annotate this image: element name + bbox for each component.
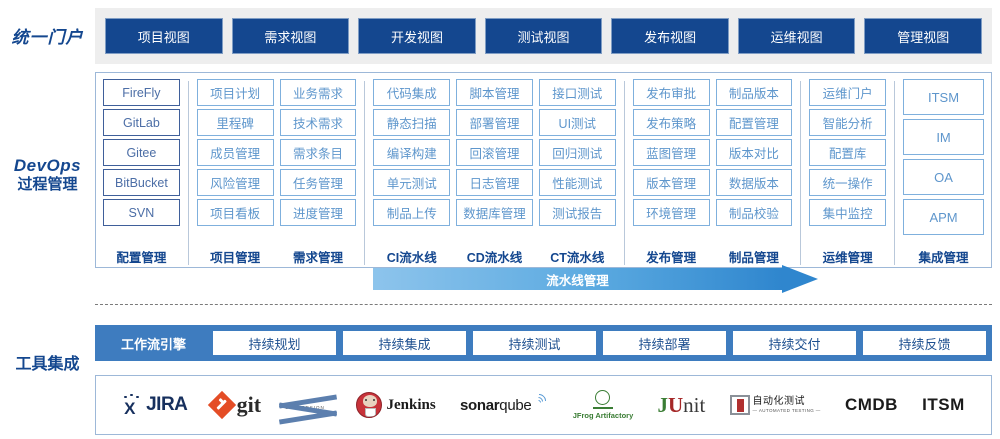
workflow-engine-label: 工作流引擎 xyxy=(101,334,206,353)
unified-portal-band: 项目视图需求视图开发视图测试视图发布视图运维视图管理视图 xyxy=(95,8,992,64)
pipeline-arrow-label: 流水线管理 xyxy=(373,268,782,290)
capability-column-配置管理: FireFlyGitLabGiteeBitBucketSVN配置管理 xyxy=(100,79,183,267)
capability-column-集成管理: ITSMIMOAAPM集成管理 xyxy=(900,79,987,267)
portal-view-button-6[interactable]: 运维视图 xyxy=(738,18,856,54)
capability-column-CT流水线: 接口测试UI测试回归测试性能测试测试报告CT流水线 xyxy=(536,79,619,267)
portal-view-button-1[interactable]: 项目视图 xyxy=(105,18,223,54)
capability-cell[interactable]: 测试报告 xyxy=(539,199,616,226)
capability-cell[interactable]: 日志管理 xyxy=(456,169,533,196)
logo-jira: XJIRA xyxy=(122,394,187,416)
workflow-stage-button-2[interactable]: 持续集成 xyxy=(343,331,466,355)
capability-cell[interactable]: 数据库管理 xyxy=(456,199,533,226)
capability-cell[interactable]: 进度管理 xyxy=(280,199,357,226)
capability-column-title: 项目管理 xyxy=(197,245,274,267)
capability-cell[interactable]: 回归测试 xyxy=(539,139,616,166)
capability-column-发布管理: 发布审批发布策略蓝图管理版本管理环境管理发布管理 xyxy=(630,79,713,267)
capability-cell[interactable]: 业务需求 xyxy=(280,79,357,106)
capability-column-CD流水线: 脚本管理部署管理回滚管理日志管理数据库管理CD流水线 xyxy=(453,79,536,267)
capability-cell[interactable]: 配置库 xyxy=(809,139,886,166)
jira-icon: X xyxy=(122,396,141,415)
capability-cell[interactable]: OA xyxy=(903,159,984,195)
capability-column-title: CD流水线 xyxy=(456,245,533,267)
column-group-4: 发布审批发布策略蓝图管理版本管理环境管理发布管理制品版本配置管理版本对比数据版本… xyxy=(630,79,796,267)
capability-cell[interactable]: 版本管理 xyxy=(633,169,710,196)
capability-cell[interactable]: 项目计划 xyxy=(197,79,274,106)
capability-column-title: 制品管理 xyxy=(716,245,793,267)
capability-cell[interactable]: BitBucket xyxy=(103,169,180,196)
capability-cell[interactable]: 接口测试 xyxy=(539,79,616,106)
column-group-1: FireFlyGitLabGiteeBitBucketSVN配置管理 xyxy=(100,79,183,267)
capability-cell[interactable]: 制品上传 xyxy=(373,199,450,226)
capability-cell-list: 脚本管理部署管理回滚管理日志管理数据库管理 xyxy=(456,79,533,245)
capability-cell-list: 代码集成静态扫描编译构建单元测试制品上传 xyxy=(373,79,450,245)
automated-testing-icon xyxy=(730,395,750,415)
capability-cell[interactable]: 任务管理 xyxy=(280,169,357,196)
column-group-divider xyxy=(188,81,189,265)
capability-cell[interactable]: IM xyxy=(903,119,984,155)
logo-jenkins: Jenkins xyxy=(356,392,436,418)
capability-cell[interactable]: 发布审批 xyxy=(633,79,710,106)
jira-wordmark: JIRA xyxy=(146,394,187,416)
devops-platform-architecture-diagram: 统一门户 DevOps 过程管理 工具集成 项目视图需求视图开发视图测试视图发布… xyxy=(0,0,1000,439)
portal-view-button-2[interactable]: 需求视图 xyxy=(232,18,350,54)
capability-cell[interactable]: GitLab xyxy=(103,109,180,136)
workflow-stage-button-3[interactable]: 持续测试 xyxy=(473,331,596,355)
capability-cell[interactable]: 集中监控 xyxy=(809,199,886,226)
capability-column-CI流水线: 代码集成静态扫描编译构建单元测试制品上传CI流水线 xyxy=(370,79,453,267)
column-group-5: 运维门户智能分析配置库统一操作集中监控运维管理 xyxy=(806,79,889,267)
cmdb-wordmark: CMDB xyxy=(845,395,898,415)
capability-cell[interactable]: 成员管理 xyxy=(197,139,274,166)
capability-cell[interactable]: 单元测试 xyxy=(373,169,450,196)
jenkins-wordmark: Jenkins xyxy=(387,397,436,414)
capability-cell[interactable]: 环境管理 xyxy=(633,199,710,226)
capability-column-title: 运维管理 xyxy=(809,245,886,267)
devops-capability-matrix: FireFlyGitLabGiteeBitBucketSVN配置管理项目计划里程… xyxy=(95,72,992,268)
capability-cell-list: 制品版本配置管理版本对比数据版本制品校验 xyxy=(716,79,793,245)
column-group-3: 代码集成静态扫描编译构建单元测试制品上传CI流水线脚本管理部署管理回滚管理日志管… xyxy=(370,79,618,267)
logo-subversion: SUBVERSION xyxy=(285,396,331,414)
capability-cell[interactable]: 运维门户 xyxy=(809,79,886,106)
junit-wordmark: JUnit xyxy=(657,393,705,418)
sonarqube-wordmark: sonarqube xyxy=(460,397,532,414)
workflow-stage-button-4[interactable]: 持续部署 xyxy=(603,331,726,355)
capability-cell[interactable]: 需求条目 xyxy=(280,139,357,166)
capability-cell-list: 项目计划里程碑成员管理风险管理项目看板 xyxy=(197,79,274,245)
capability-column-title: CI流水线 xyxy=(373,245,450,267)
logo-git: git xyxy=(212,392,261,418)
jfrog-icon: JFrog Artifactory xyxy=(573,390,634,420)
capability-cell[interactable]: 回滚管理 xyxy=(456,139,533,166)
pipeline-management-arrow: 流水线管理 xyxy=(373,268,818,290)
jenkins-icon xyxy=(356,392,382,418)
column-group-divider xyxy=(624,81,625,265)
logo-cmdb: CMDB xyxy=(845,395,898,415)
capability-cell[interactable]: UI测试 xyxy=(539,109,616,136)
capability-cell[interactable]: 制品校验 xyxy=(716,199,793,226)
portal-view-button-3[interactable]: 开发视图 xyxy=(358,18,476,54)
logo-sonarqube: sonarqube xyxy=(460,397,549,414)
logo-junit: JUnit xyxy=(657,393,705,418)
tool-integration-row-label: 工具集成 xyxy=(0,355,95,375)
capability-column-需求管理: 业务需求技术需求需求条目任务管理进度管理需求管理 xyxy=(277,79,360,267)
workflow-engine-band: 工作流引擎 持续规划持续集成持续测试持续部署持续交付持续反馈 xyxy=(95,325,992,361)
subversion-icon: SUBVERSION xyxy=(285,396,331,414)
capability-cell[interactable]: 性能测试 xyxy=(539,169,616,196)
devops-label-cn: 过程管理 xyxy=(0,176,95,195)
section-divider xyxy=(95,304,992,305)
capability-column-title: 集成管理 xyxy=(903,245,984,267)
capability-column-title: CT流水线 xyxy=(539,245,616,267)
unified-portal-row-label: 统一门户 xyxy=(0,27,95,48)
capability-cell[interactable]: 部署管理 xyxy=(456,109,533,136)
capability-cell[interactable]: 风险管理 xyxy=(197,169,274,196)
capability-cell-list: FireFlyGitLabGiteeBitBucketSVN xyxy=(103,79,180,245)
capability-column-title: 需求管理 xyxy=(280,245,357,267)
capability-cell[interactable]: 编译构建 xyxy=(373,139,450,166)
capability-cell[interactable]: 配置管理 xyxy=(716,109,793,136)
capability-cell-list: 接口测试UI测试回归测试性能测试测试报告 xyxy=(539,79,616,245)
workflow-stage-button-5[interactable]: 持续交付 xyxy=(733,331,856,355)
capability-cell[interactable]: 版本对比 xyxy=(716,139,793,166)
capability-cell[interactable]: SVN xyxy=(103,199,180,226)
capability-column-title: 发布管理 xyxy=(633,245,710,267)
logo-jfrog-artifactory: JFrog Artifactory xyxy=(573,390,634,420)
itsm-wordmark: ITSM xyxy=(922,395,965,415)
capability-cell[interactable]: 制品版本 xyxy=(716,79,793,106)
capability-cell[interactable]: Gitee xyxy=(103,139,180,166)
workflow-stage-button-1[interactable]: 持续规划 xyxy=(213,331,336,355)
automated-testing-wordmark-cn: 自动化测试 xyxy=(753,397,821,407)
tool-logo-strip: XJIRAgitSUBVERSIONJenkinssonarqubeJFrog … xyxy=(95,375,992,435)
column-group-divider xyxy=(894,81,895,265)
workflow-stage-button-6[interactable]: 持续反馈 xyxy=(863,331,986,355)
portal-view-button-7[interactable]: 管理视图 xyxy=(864,18,982,54)
capability-cell[interactable]: 技术需求 xyxy=(280,109,357,136)
column-group-divider xyxy=(364,81,365,265)
column-group-2: 项目计划里程碑成员管理风险管理项目看板项目管理业务需求技术需求需求条目任务管理进… xyxy=(194,79,360,267)
capability-cell[interactable]: 蓝图管理 xyxy=(633,139,710,166)
automated-testing-wordmark-en: — AUTOMATED TESTING — xyxy=(753,409,821,414)
capability-cell-list: 运维门户智能分析配置库统一操作集中监控 xyxy=(809,79,886,245)
capability-cell[interactable]: FireFly xyxy=(103,79,180,106)
column-group-divider xyxy=(800,81,801,265)
jfrog-wordmark: JFrog Artifactory xyxy=(573,411,634,420)
capability-column-title: 配置管理 xyxy=(103,245,180,267)
devops-process-row-label: DevOps 过程管理 xyxy=(0,155,95,195)
capability-cell[interactable]: APM xyxy=(903,199,984,235)
capability-column-制品管理: 制品版本配置管理版本对比数据版本制品校验制品管理 xyxy=(713,79,796,267)
capability-column-运维管理: 运维门户智能分析配置库统一操作集中监控运维管理 xyxy=(806,79,889,267)
capability-cell-list: 发布审批发布策略蓝图管理版本管理环境管理 xyxy=(633,79,710,245)
capability-cell[interactable]: 静态扫描 xyxy=(373,109,450,136)
git-icon xyxy=(207,391,235,419)
capability-cell[interactable]: 脚本管理 xyxy=(456,79,533,106)
capability-cell-list: ITSMIMOAAPM xyxy=(903,79,984,245)
capability-cell[interactable]: 里程碑 xyxy=(197,109,274,136)
capability-cell[interactable]: 代码集成 xyxy=(373,79,450,106)
portal-view-button-5[interactable]: 发布视图 xyxy=(611,18,729,54)
devops-label-en: DevOps xyxy=(0,155,95,176)
column-group-6: ITSMIMOAAPM集成管理 xyxy=(900,79,987,267)
git-wordmark: git xyxy=(237,392,261,418)
capability-cell[interactable]: 项目看板 xyxy=(197,199,274,226)
capability-cell[interactable]: ITSM xyxy=(903,79,984,115)
pipeline-arrow-head xyxy=(782,265,818,293)
capability-cell[interactable]: 统一操作 xyxy=(809,169,886,196)
logo-automated-testing: 自动化测试— AUTOMATED TESTING — xyxy=(730,395,821,415)
capability-cell-list: 业务需求技术需求需求条目任务管理进度管理 xyxy=(280,79,357,245)
logo-itsm: ITSM xyxy=(922,395,965,415)
capability-cell[interactable]: 智能分析 xyxy=(809,109,886,136)
portal-view-button-4[interactable]: 测试视图 xyxy=(485,18,603,54)
capability-column-项目管理: 项目计划里程碑成员管理风险管理项目看板项目管理 xyxy=(194,79,277,267)
capability-cell[interactable]: 数据版本 xyxy=(716,169,793,196)
sonarqube-icon: sonarqube xyxy=(460,397,549,414)
capability-cell[interactable]: 发布策略 xyxy=(633,109,710,136)
